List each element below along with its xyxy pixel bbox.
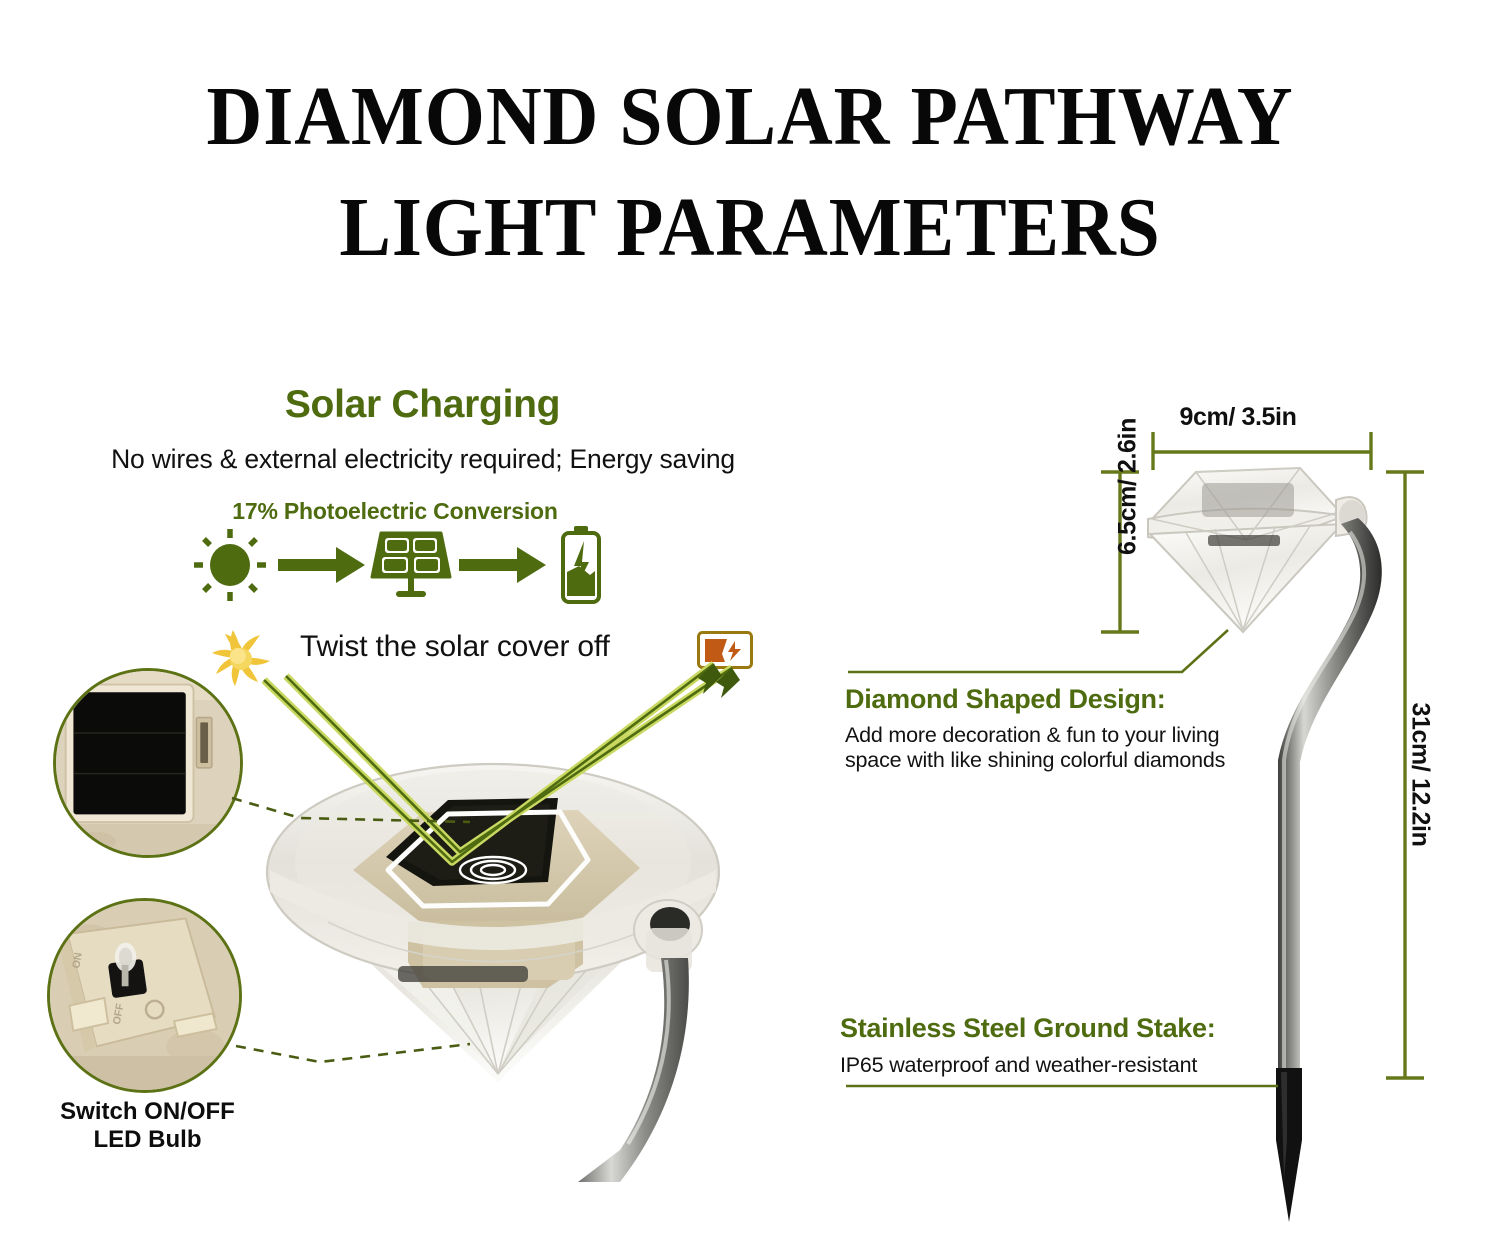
callout-diamond-body-line-2: space with like shining colorful diamond…	[845, 748, 1265, 773]
battery-charge-box-icon	[697, 631, 753, 669]
stainless-steel-stake-graphic	[1276, 518, 1382, 1222]
title-line-2: LIGHT PARAMETERS	[60, 173, 1440, 284]
infographic-page: DIAMOND SOLAR PATHWAY LIGHT PARAMETERS S…	[0, 0, 1500, 1243]
dimension-height-label: 6.5cm/ 2.6in	[1114, 407, 1143, 567]
main-product-photo	[248, 752, 738, 1182]
twist-cover-instruction: Twist the solar cover off	[300, 630, 610, 664]
solar-panel-closeup-inset	[53, 668, 243, 858]
dimension-total-label: 31cm/ 12.2in	[1406, 685, 1435, 865]
solar-charging-subheading: No wires & external electricity required…	[78, 444, 768, 475]
battery-charging-icon	[550, 526, 612, 604]
callout-stake-title: Stainless Steel Ground Stake:	[840, 1013, 1260, 1044]
photoelectric-conversion-label: 17% Photoelectric Conversion	[180, 498, 610, 525]
title-line-1: DIAMOND SOLAR PATHWAY	[60, 62, 1440, 173]
sun-swirl-icon	[205, 622, 277, 694]
sun-icon	[192, 526, 268, 604]
solar-charging-heading: Solar Charging	[95, 383, 750, 427]
callout-stainless-steel-stake: Stainless Steel Ground Stake: IP65 water…	[840, 1013, 1260, 1078]
inset-caption-line-2: LED Bulb	[20, 1126, 275, 1154]
arrow-right-icon-1	[277, 526, 367, 604]
callout-diamond-shaped-design: Diamond Shaped Design: Add more decorati…	[845, 684, 1265, 773]
solar-panel-icon	[367, 526, 455, 604]
dimension-width-label: 9cm/ 3.5in	[1118, 403, 1358, 432]
callout-diamond-body-line-1: Add more decoration & fun to your living	[845, 723, 1265, 748]
page-title: DIAMOND SOLAR PATHWAY LIGHT PARAMETERS	[0, 62, 1500, 284]
solar-flow-diagram	[192, 526, 612, 604]
inset-caption-line-1: Switch ON/OFF	[20, 1098, 275, 1126]
switch-led-closeup-inset: ON OFF	[47, 898, 242, 1093]
callout-diamond-title: Diamond Shaped Design:	[845, 684, 1265, 715]
inset-caption: Switch ON/OFF LED Bulb	[20, 1098, 275, 1155]
diamond-head-graphic	[1148, 468, 1367, 632]
callout-stake-body-line-1: IP65 waterproof and weather-resistant	[840, 1053, 1260, 1078]
arrow-right-icon-2	[458, 526, 548, 604]
